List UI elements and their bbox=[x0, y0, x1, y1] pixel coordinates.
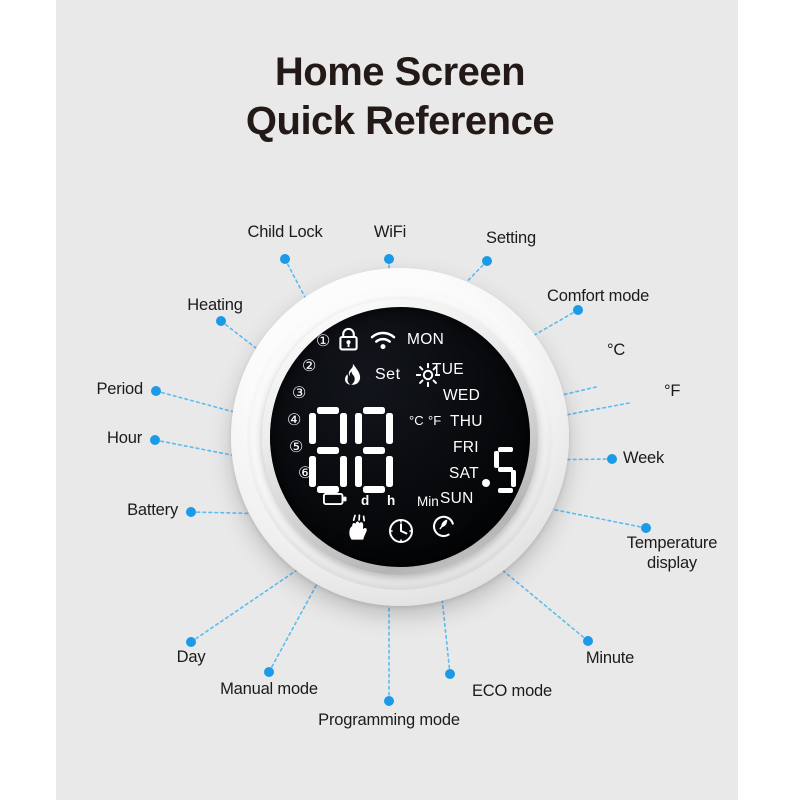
decimal-point bbox=[482, 479, 490, 487]
unit-minute: Min bbox=[417, 495, 439, 509]
callout-minute: Minute bbox=[586, 648, 634, 668]
thermostat-device[interactable]: ① ② ③ ④ ⑤ ⑥ bbox=[231, 268, 569, 606]
callout-comfort-mode: Comfort mode bbox=[547, 286, 649, 306]
flame-icon bbox=[342, 363, 361, 387]
weekday-mon: MON bbox=[407, 332, 444, 348]
callout-period: Period bbox=[97, 379, 144, 399]
battery-icon bbox=[323, 493, 347, 505]
weekday-thu: THU bbox=[450, 414, 483, 430]
hand-icon bbox=[346, 514, 370, 540]
thermostat-bezel: ① ② ③ ④ ⑤ ⑥ bbox=[262, 299, 538, 575]
set-text: Set bbox=[375, 367, 401, 383]
callout-day: Day bbox=[177, 647, 206, 667]
callout-temperature-display: Temperature display bbox=[607, 533, 737, 573]
period-number-4: ④ bbox=[287, 413, 301, 429]
period-number-5: ⑤ bbox=[289, 440, 303, 456]
lcd-display: ① ② ③ ④ ⑤ ⑥ bbox=[270, 307, 530, 567]
temperature-digits bbox=[308, 407, 440, 493]
clock-icon bbox=[388, 518, 414, 544]
callout-wifi: WiFi bbox=[374, 222, 406, 242]
callout-battery: Battery bbox=[127, 500, 178, 520]
period-number-1: ① bbox=[316, 334, 330, 350]
lock-icon bbox=[338, 327, 359, 351]
callout-eco-mode: ECO mode bbox=[472, 681, 552, 701]
unit-hour: h bbox=[387, 494, 395, 508]
callout-heating: Heating bbox=[187, 295, 242, 315]
unit-day: d bbox=[361, 494, 369, 508]
weekday-tue: TUE bbox=[432, 362, 464, 378]
callout-manual-mode: Manual mode bbox=[220, 679, 318, 699]
weekday-sun: SUN bbox=[440, 491, 474, 507]
callout-child-lock: Child Lock bbox=[247, 222, 322, 242]
callout-fahrenheit: °F bbox=[664, 381, 680, 401]
segment-digit-3 bbox=[494, 447, 516, 493]
callout-week: Week bbox=[623, 448, 664, 468]
period-number-2: ② bbox=[302, 359, 316, 375]
segment-digit-2 bbox=[354, 407, 394, 493]
eco-leaf-icon bbox=[432, 514, 456, 538]
weekday-wed: WED bbox=[443, 388, 480, 404]
callout-setting: Setting bbox=[486, 228, 536, 248]
weekday-sat: SAT bbox=[449, 466, 479, 482]
wifi-icon bbox=[370, 330, 396, 350]
page-root: Home Screen Quick Reference bbox=[0, 0, 800, 800]
callout-celsius: °C bbox=[607, 340, 625, 360]
weekday-fri: FRI bbox=[453, 440, 479, 456]
callout-programming-mode: Programming mode bbox=[318, 710, 460, 730]
segment-digit-1 bbox=[308, 407, 348, 493]
callout-hour: Hour bbox=[107, 428, 142, 448]
period-number-3: ③ bbox=[292, 386, 306, 402]
